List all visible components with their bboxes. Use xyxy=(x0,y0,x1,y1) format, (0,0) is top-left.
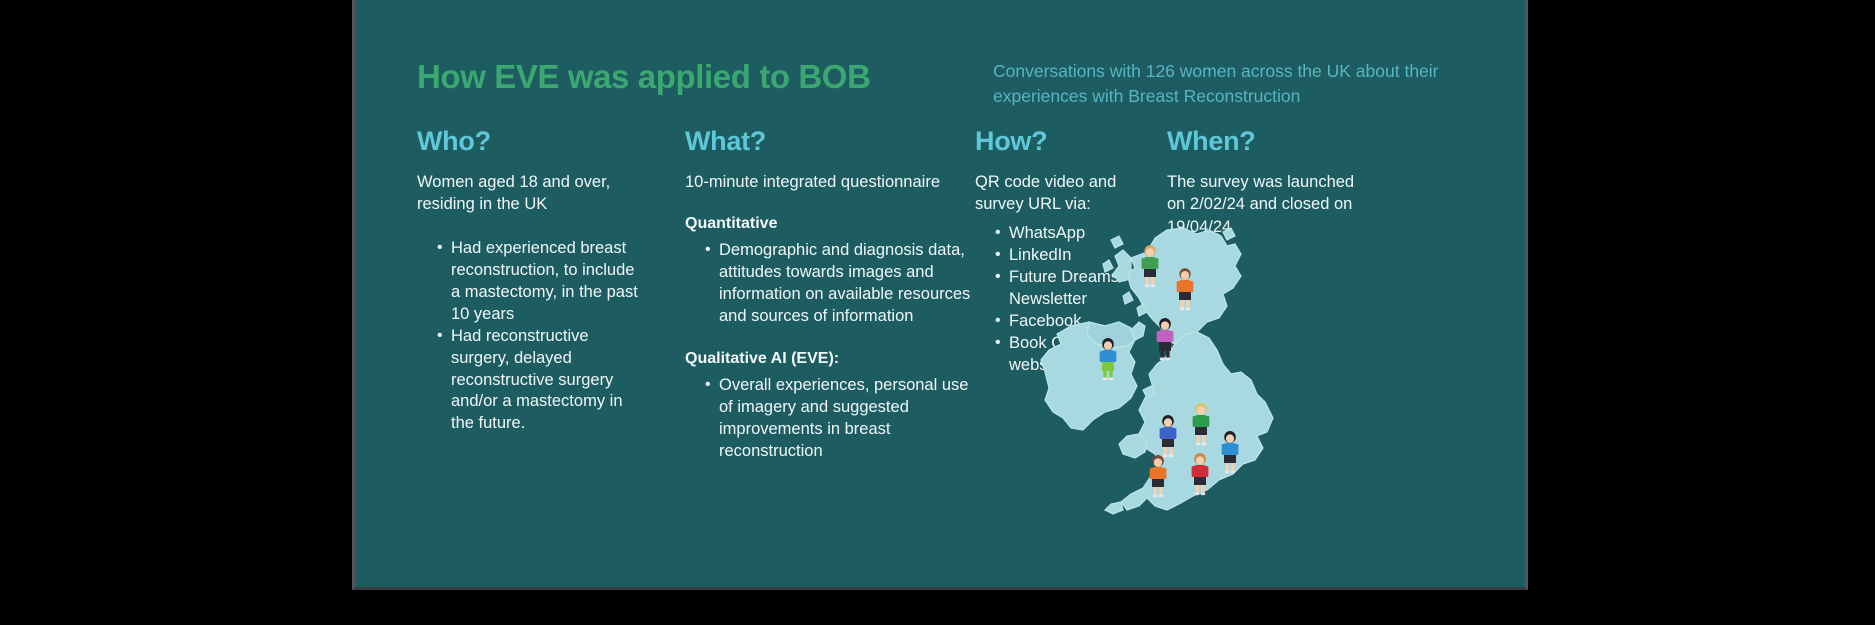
column-who: Who? Women aged 18 and over, residing in… xyxy=(417,128,642,435)
figure-scotland-east xyxy=(1172,267,1198,311)
column-how-lead: QR code video and survey URL via: xyxy=(975,171,1150,216)
figure-england-southeast xyxy=(1187,452,1213,496)
column-when-heading: When? xyxy=(1167,128,1367,155)
figure-scotland-north xyxy=(1137,244,1163,288)
figure-northern-ireland xyxy=(1095,337,1121,381)
column-who-lead: Women aged 18 and over, residing in the … xyxy=(417,171,642,216)
list-item: Demographic and diagnosis data, attitude… xyxy=(705,240,975,328)
screenshot-root: How EVE was applied to BOB Conversations… xyxy=(0,0,1875,625)
column-what-qualitative-label: Qualitative AI (EVE): xyxy=(685,350,975,368)
column-how-heading: How? xyxy=(975,128,1150,155)
column-what-qualitative-list: Overall experiences, personal use of ima… xyxy=(685,375,975,463)
column-what-lead: 10-minute integrated questionnaire xyxy=(685,171,975,193)
list-item: Had experienced breast reconstruction, t… xyxy=(437,238,642,326)
column-what: What? 10-minute integrated questionnaire… xyxy=(685,128,975,463)
list-item: Overall experiences, personal use of ima… xyxy=(705,375,975,463)
figure-england-southwest xyxy=(1145,454,1171,498)
figure-england-northeast xyxy=(1188,402,1214,446)
page-subtitle: Conversations with 126 women across the … xyxy=(993,59,1493,109)
list-item: Had reconstructive surgery, delayed reco… xyxy=(437,326,642,436)
figure-scotland-central xyxy=(1152,317,1178,361)
column-who-bullet-list: Had experienced breast reconstruction, t… xyxy=(417,238,642,435)
column-what-quantitative-label: Quantitative xyxy=(685,215,975,233)
uk-ireland-map xyxy=(1027,222,1327,532)
column-what-quantitative-list: Demographic and diagnosis data, attitude… xyxy=(685,240,975,328)
presentation-slide: How EVE was applied to BOB Conversations… xyxy=(352,0,1528,590)
figure-england-east xyxy=(1217,430,1243,474)
figure-england-northwest xyxy=(1155,414,1181,458)
page-title: How EVE was applied to BOB xyxy=(417,58,871,96)
column-who-heading: Who? xyxy=(417,128,642,155)
column-what-heading: What? xyxy=(685,128,975,155)
